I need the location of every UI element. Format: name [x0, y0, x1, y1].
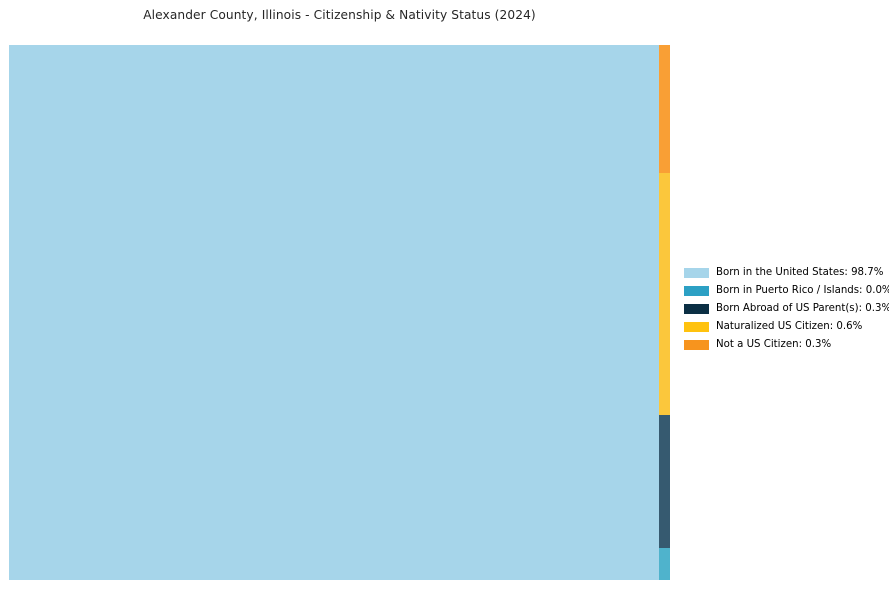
- legend-item-label: Naturalized US Citizen: 0.6%: [716, 322, 862, 332]
- legend-item[interactable]: Naturalized US Citizen: 0.6%: [684, 318, 884, 336]
- legend-item-label: Born in the United States: 98.7%: [716, 268, 883, 278]
- legend-color-swatch: [684, 304, 709, 314]
- treemap-tile[interactable]: [659, 173, 670, 415]
- legend-item-label: Born in Puerto Rico / Islands: 0.0%: [716, 286, 889, 296]
- treemap-tile[interactable]: [9, 45, 659, 580]
- legend-color-swatch: [684, 268, 709, 278]
- legend-item[interactable]: Not a US Citizen: 0.3%: [684, 336, 884, 354]
- treemap-tile[interactable]: [659, 415, 670, 548]
- legend-item-label: Born Abroad of US Parent(s): 0.3%: [716, 304, 889, 314]
- legend-item-label: Not a US Citizen: 0.3%: [716, 340, 831, 350]
- legend-color-swatch: [684, 286, 709, 296]
- legend-color-swatch: [684, 322, 709, 332]
- legend-item[interactable]: Born Abroad of US Parent(s): 0.3%: [684, 300, 884, 318]
- legend-color-swatch: [684, 340, 709, 350]
- legend-item[interactable]: Born in Puerto Rico / Islands: 0.0%: [684, 282, 884, 300]
- page-title: Alexander County, Illinois - Citizenship…: [0, 8, 679, 22]
- chart-legend: Born in the United States: 98.7%Born in …: [684, 264, 884, 354]
- treemap-tile[interactable]: [659, 45, 670, 173]
- treemap-tile[interactable]: [659, 548, 670, 580]
- legend-item[interactable]: Born in the United States: 98.7%: [684, 264, 884, 282]
- chart-figure: Alexander County, Illinois - Citizenship…: [0, 0, 889, 590]
- treemap-plot-area: [9, 45, 670, 580]
